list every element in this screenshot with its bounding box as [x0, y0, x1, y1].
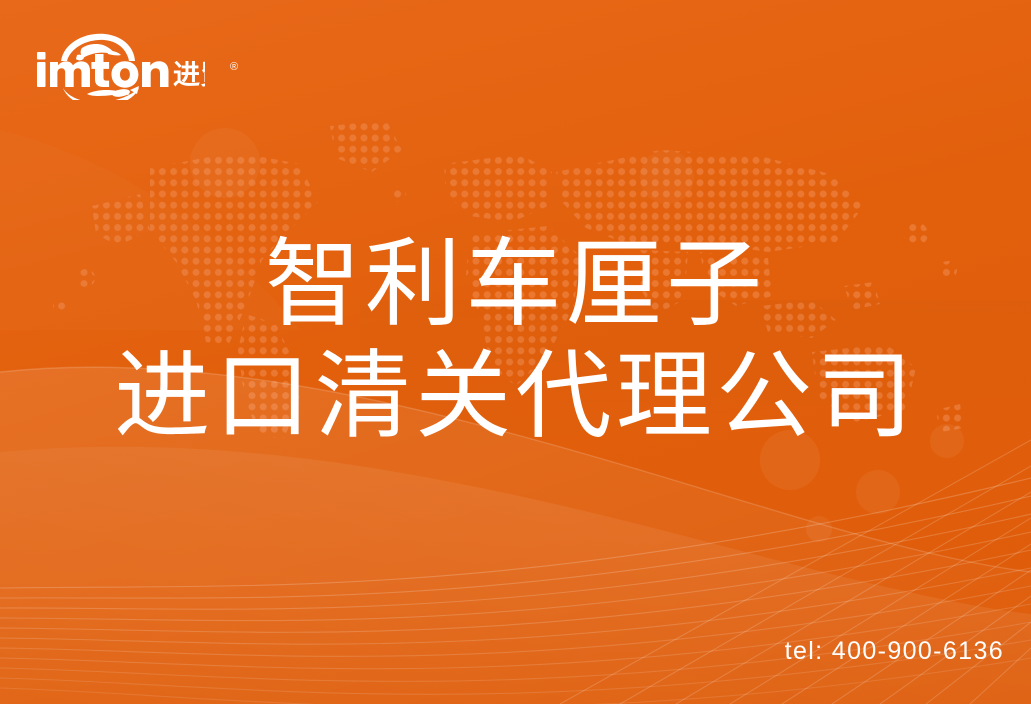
headline-line-2: 进口清关代理公司 [0, 340, 1031, 452]
logo-chinese-name: 进贸通 [173, 60, 205, 91]
promo-banner: 进贸通 ® 智利车厘子 进口清关代理公司 tel: 400-900-6136 [0, 0, 1031, 704]
logo-wordmark [37, 52, 169, 88]
brand-logo[interactable]: 进贸通 ® [33, 28, 205, 100]
registered-trademark-icon: ® [230, 62, 238, 73]
headline-block: 智利车厘子 进口清关代理公司 [0, 228, 1031, 452]
logo-mark: 进贸通 [33, 28, 205, 100]
headline-line-1: 智利车厘子 [0, 228, 1031, 340]
telephone-label[interactable]: tel: 400-900-6136 [785, 637, 1004, 666]
swoosh-fish-icon [63, 86, 139, 100]
